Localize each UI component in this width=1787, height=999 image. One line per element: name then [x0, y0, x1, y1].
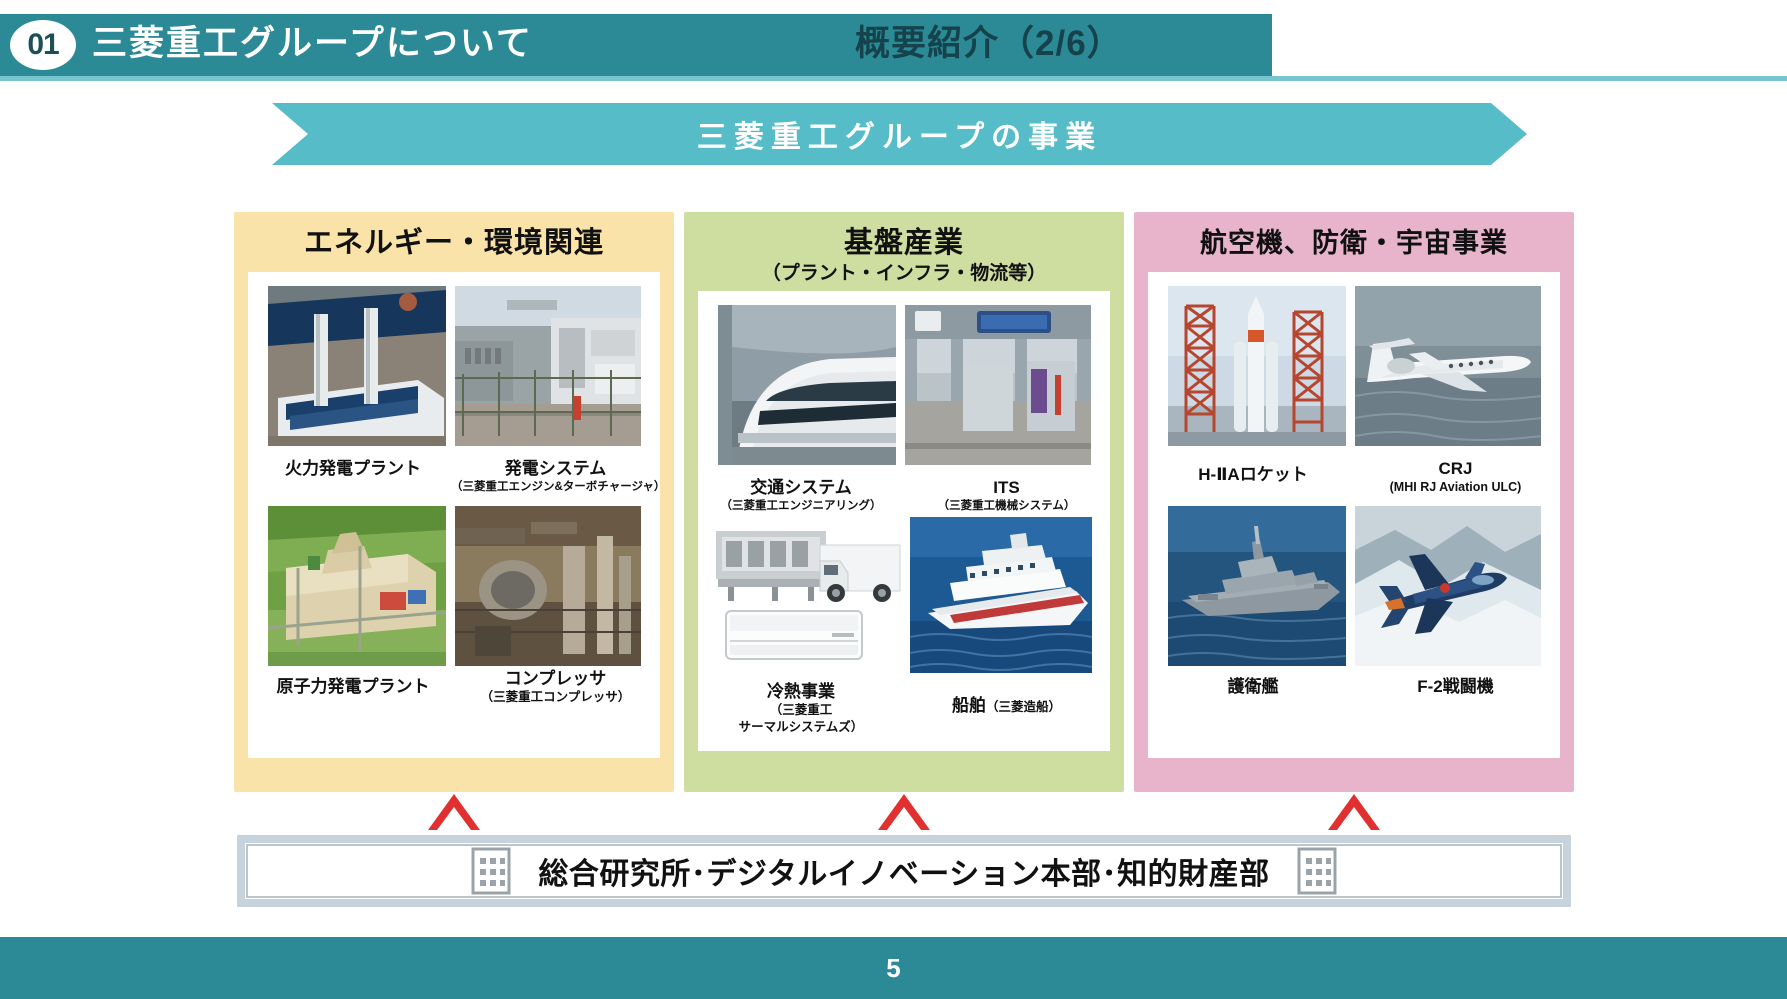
panel-infrastructure: 基盤産業 （プラント・インフラ・物流等）: [684, 212, 1124, 792]
caption-crj: CRJ (MHI RJ Aviation ULC): [1351, 458, 1560, 496]
panel-aerospace-defense-head: 航空機、防衛・宇宙事業: [1134, 212, 1574, 261]
panel-infrastructure-title: 基盤産業: [684, 225, 1124, 261]
caption-f2-fighter: F-2戦闘機: [1351, 676, 1560, 697]
slide-root: 01 三菱重工グループについて 概要紹介（2/6） 三菱重工グループの事業 エネ…: [0, 0, 1787, 999]
panel-energy-head: エネルギー・環境関連: [234, 212, 674, 261]
caption-its: ITS （三菱重工機械システム）: [903, 477, 1110, 515]
arrow-up-infrastructure: [872, 790, 936, 832]
section-number-badge: 01: [10, 20, 76, 70]
panel-energy-body: 火力発電プラント 発電システム （三菱重工エンジン&ターボチャージャ）: [248, 272, 660, 758]
panel-infrastructure-body: 交通システム （三菱重工エンジニアリング） ITS （三菱重工機械システム）: [698, 291, 1110, 751]
caption-power-generation-system: 発電システム （三菱重工エンジン&ターボチャージャ）: [451, 458, 660, 496]
caption-nuclear-power-plant: 原子力発電プラント: [248, 676, 458, 697]
arrow-up-aerospace-defense: [1322, 790, 1386, 832]
caption-compressor: コンプレッサ （三菱重工コンプレッサ）: [451, 668, 660, 706]
thumb-f2-fighter: [1355, 506, 1541, 666]
building-icon: [470, 846, 512, 896]
thumb-transit-system: [718, 305, 896, 465]
panel-energy-title: エネルギー・環境関連: [234, 225, 674, 261]
caption-cold-heat-business: 冷熱事業 （三菱重工 サーマルシステムズ）: [698, 681, 904, 736]
caption-destroyer: 護衛艦: [1148, 676, 1358, 697]
caption-thermal-power-plant: 火力発電プラント: [248, 458, 458, 479]
page-title: 三菱重工グループについて: [92, 22, 533, 66]
page-subtitle: 概要紹介（2/6）: [855, 22, 1123, 66]
thumb-h2a-rocket: [1168, 286, 1346, 446]
page-number: 5: [886, 953, 900, 984]
thumb-nuclear-power-plant: [268, 506, 446, 666]
thumb-its-toll-gate: [905, 305, 1091, 465]
thumb-thermal-power-plant: [268, 286, 446, 446]
arrow-up-energy: [422, 790, 486, 832]
thumb-power-generation-system: [455, 286, 641, 446]
caption-cold-heat-sub2: サーマルシステムズ）: [698, 719, 904, 736]
rnd-division-label: 総合研究所･デジタルイノベーション本部･知的財産部: [538, 849, 1269, 893]
caption-cold-heat-sub1: （三菱重工: [698, 702, 904, 719]
caption-ship: 船舶（三菱造船）: [903, 695, 1110, 716]
caption-ship-line: 船舶（三菱造船）: [903, 695, 1110, 716]
thumb-compressor: [455, 506, 641, 666]
panel-infrastructure-subtitle: （プラント・インフラ・物流等）: [684, 261, 1124, 286]
rnd-division-inner: 総合研究所･デジタルイノベーション本部･知的財産部: [246, 844, 1562, 898]
caption-h2a-rocket: H-ⅡAロケット: [1148, 464, 1358, 485]
panel-aerospace-defense-title: 航空機、防衛・宇宙事業: [1134, 225, 1574, 261]
rnd-division-bar: 総合研究所･デジタルイノベーション本部･知的財産部: [234, 832, 1574, 910]
caption-transit-system: 交通システム （三菱重工エンジニアリング）: [698, 477, 904, 515]
panel-aerospace-defense-body: H-ⅡAロケット CRJ (MHI RJ Aviation ULC): [1148, 272, 1560, 758]
section-banner: 三菱重工グループの事業: [272, 103, 1527, 165]
building-icon: [1296, 846, 1338, 896]
section-banner-label: 三菱重工グループの事業: [697, 112, 1102, 156]
thumb-crj-jet: [1355, 286, 1541, 446]
panel-aerospace-defense: 航空機、防衛・宇宙事業: [1134, 212, 1574, 792]
thumb-ferry-ship: [910, 517, 1092, 673]
panel-energy: エネルギー・環境関連: [234, 212, 674, 792]
thumb-destroyer: [1168, 506, 1346, 666]
panel-infrastructure-head: 基盤産業 （プラント・インフラ・物流等）: [684, 212, 1124, 286]
thumb-air-conditioning: [712, 527, 902, 675]
footer-bar: 5: [0, 937, 1787, 999]
header-divider: [0, 76, 1787, 81]
